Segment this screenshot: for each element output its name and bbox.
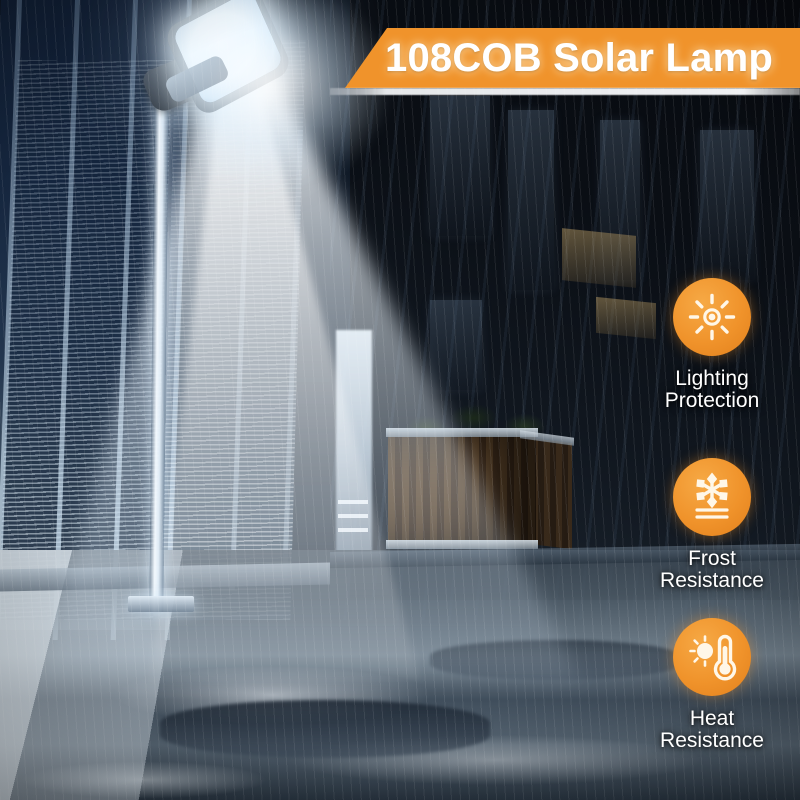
feature-label-line1: Heat <box>636 708 788 730</box>
product-marketing-image: 108COB Solar Lamp Lighting <box>0 0 800 800</box>
feature-label: Lighting Protection <box>636 368 788 413</box>
feature-label-line2: Resistance <box>636 570 788 592</box>
snowflake-icon <box>687 472 737 522</box>
feature-lighting-protection[interactable]: Lighting Protection <box>636 278 788 413</box>
feature-label-line2: Protection <box>636 390 788 412</box>
feature-frost-resistance[interactable]: Frost Resistance <box>636 458 788 593</box>
feature-label: Heat Resistance <box>636 708 788 753</box>
feature-label: Frost Resistance <box>636 548 788 593</box>
feature-label-line2: Resistance <box>636 730 788 752</box>
title-banner-underline <box>330 88 800 95</box>
title-text: 108COB Solar Lamp <box>385 28 800 88</box>
feature-badge-circle <box>673 458 751 536</box>
feature-badge-circle <box>673 618 751 696</box>
feature-heat-resistance[interactable]: Heat Resistance <box>636 618 788 753</box>
sun-icon <box>687 292 737 342</box>
thermometer-sun-icon <box>686 631 738 683</box>
feature-label-line1: Lighting <box>636 368 788 390</box>
feature-label-line1: Frost <box>636 548 788 570</box>
thermometer-part <box>716 637 735 679</box>
sun-part <box>691 637 714 666</box>
feature-badge-circle <box>673 278 751 356</box>
puddle <box>160 700 490 758</box>
